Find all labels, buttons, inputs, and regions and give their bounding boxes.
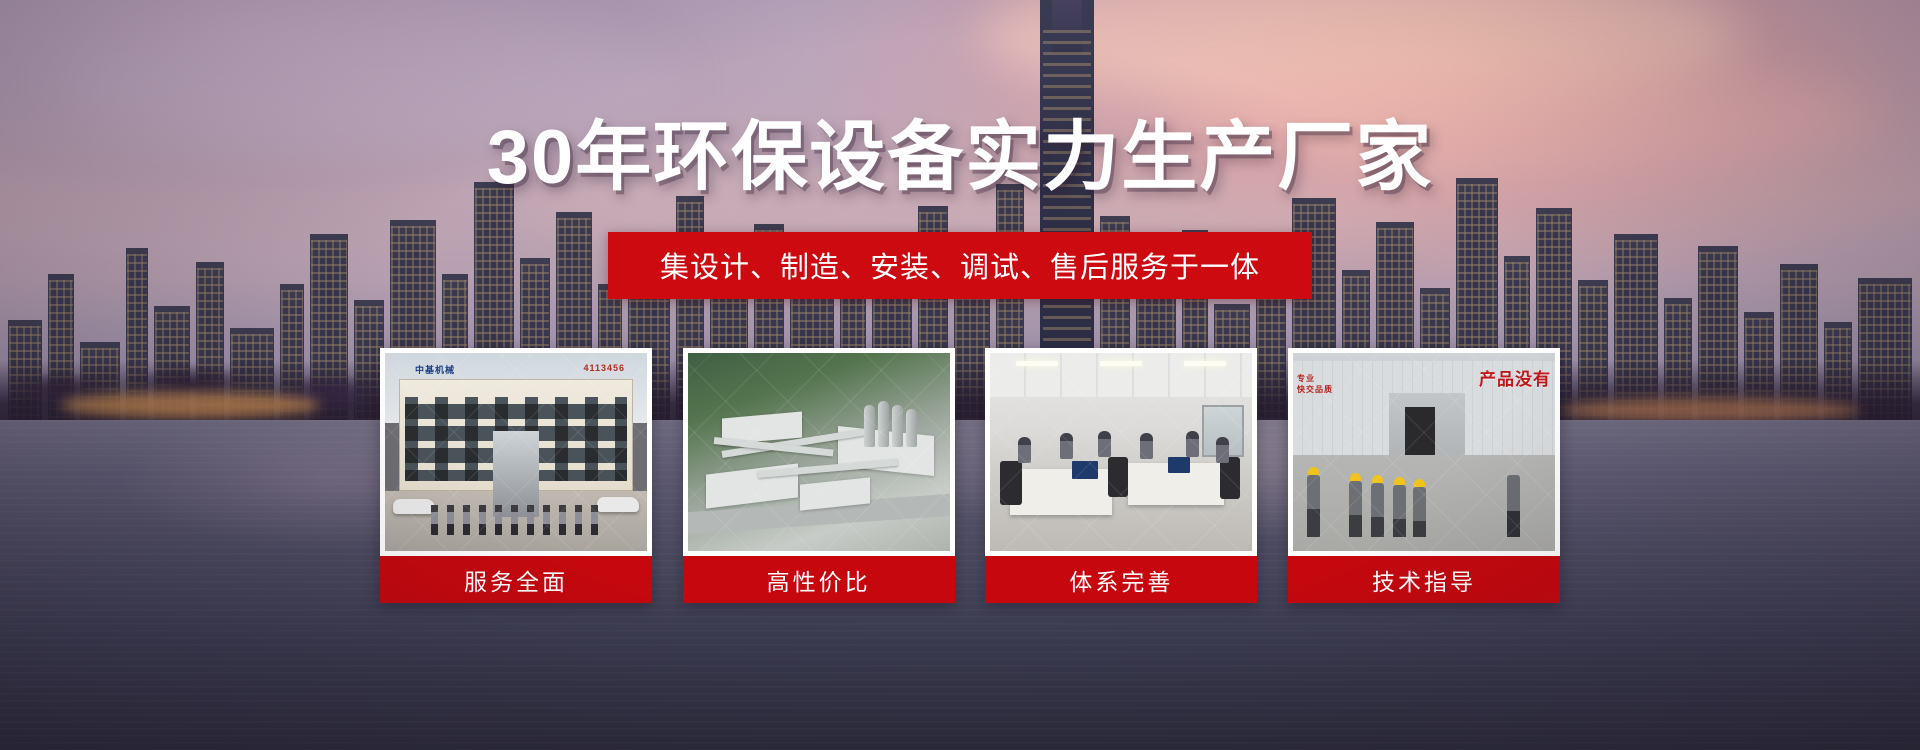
photo-employee [1060,433,1073,459]
photo-worker [1307,475,1320,537]
card-4-caption: 技术指导 [1288,556,1560,603]
photo-chair [1220,457,1240,499]
photo-worker [1413,487,1426,537]
photo-ceiling-light [1184,361,1226,366]
card-4-photo: 产品没有 专业 快交品质 [1293,353,1555,551]
photo-staff [479,505,486,535]
photo-factory-side-slogan: 专业 快交品质 [1297,373,1333,395]
photo-laptop-screen [1072,461,1098,479]
photo-staff [527,505,534,535]
feature-card-1[interactable]: 中基机械 4113456 服务全面 [380,348,652,603]
photo-helmet [1350,473,1361,481]
photo-worker [1371,483,1384,537]
feature-card-4[interactable]: 产品没有 专业 快交品质 [1288,348,1560,603]
photo-chair [1000,461,1022,505]
photo-ceiling-light [1016,361,1058,366]
card-1-caption: 服务全面 [380,556,652,603]
photo-ceiling-light [1100,361,1142,366]
subtitle-badge: 集设计、制造、安装、调试、售后服务于一体 [608,232,1312,299]
page-title: 30年环保设备实力生产厂家 [0,120,1920,196]
photo-silo [892,405,903,447]
photo-car [597,497,639,512]
photo-silo [864,405,875,447]
photo-helmet [1308,467,1319,475]
photo-factory-sign: 产品没有 [1479,365,1551,390]
photo-ceiling [990,353,1252,397]
card-1-photo: 中基机械 4113456 [385,353,647,551]
photo-supervisor [1507,475,1520,537]
feature-card-3[interactable]: 体系完善 [985,348,1257,603]
photo-staff [543,505,550,535]
subtitle-container: 集设计、制造、安装、调试、售后服务于一体 [0,232,1920,299]
photo-staff [463,505,470,535]
photo-car [393,499,435,514]
slogan-line-1: 专业 [1297,374,1315,383]
hero-banner: 30年环保设备实力生产厂家 集设计、制造、安装、调试、售后服务于一体 中基机械 … [0,0,1920,750]
photo-staff [591,505,598,535]
photo-staff [447,505,454,535]
photo-worker [1349,481,1362,537]
photo-staff [559,505,566,535]
photo-employee [1018,437,1031,463]
photo-staff [431,505,438,535]
photo-silo [878,401,889,447]
slogan-line-2: 快交品质 [1297,385,1333,394]
photo-staff [495,505,502,535]
photo-office-building [399,379,633,491]
photo-company-logo-text: 中基机械 [415,363,455,376]
photo-worker [1393,485,1406,537]
photo-staff [575,505,582,535]
photo-laptop-screen [1168,457,1190,473]
photo-silo [906,409,917,447]
card-3-caption: 体系完善 [985,556,1257,603]
photo-factory-door [1405,407,1435,455]
photo-employee [1186,431,1199,457]
card-2-caption: 高性价比 [683,556,955,603]
photo-employee [1140,433,1153,459]
photo-staff [511,505,518,535]
feature-card-row: 中基机械 4113456 服务全面 [380,348,1560,603]
photo-phone-number: 4113456 [583,363,625,373]
card-3-photo [990,353,1252,551]
photo-chair [1108,457,1128,497]
photo-employee [1098,431,1111,457]
photo-helmet [1372,475,1383,483]
photo-helmet [1414,479,1425,487]
feature-card-2[interactable]: 高性价比 [683,348,955,603]
photo-helmet [1394,477,1405,485]
photo-employee [1216,437,1229,463]
card-2-photo [688,353,950,551]
